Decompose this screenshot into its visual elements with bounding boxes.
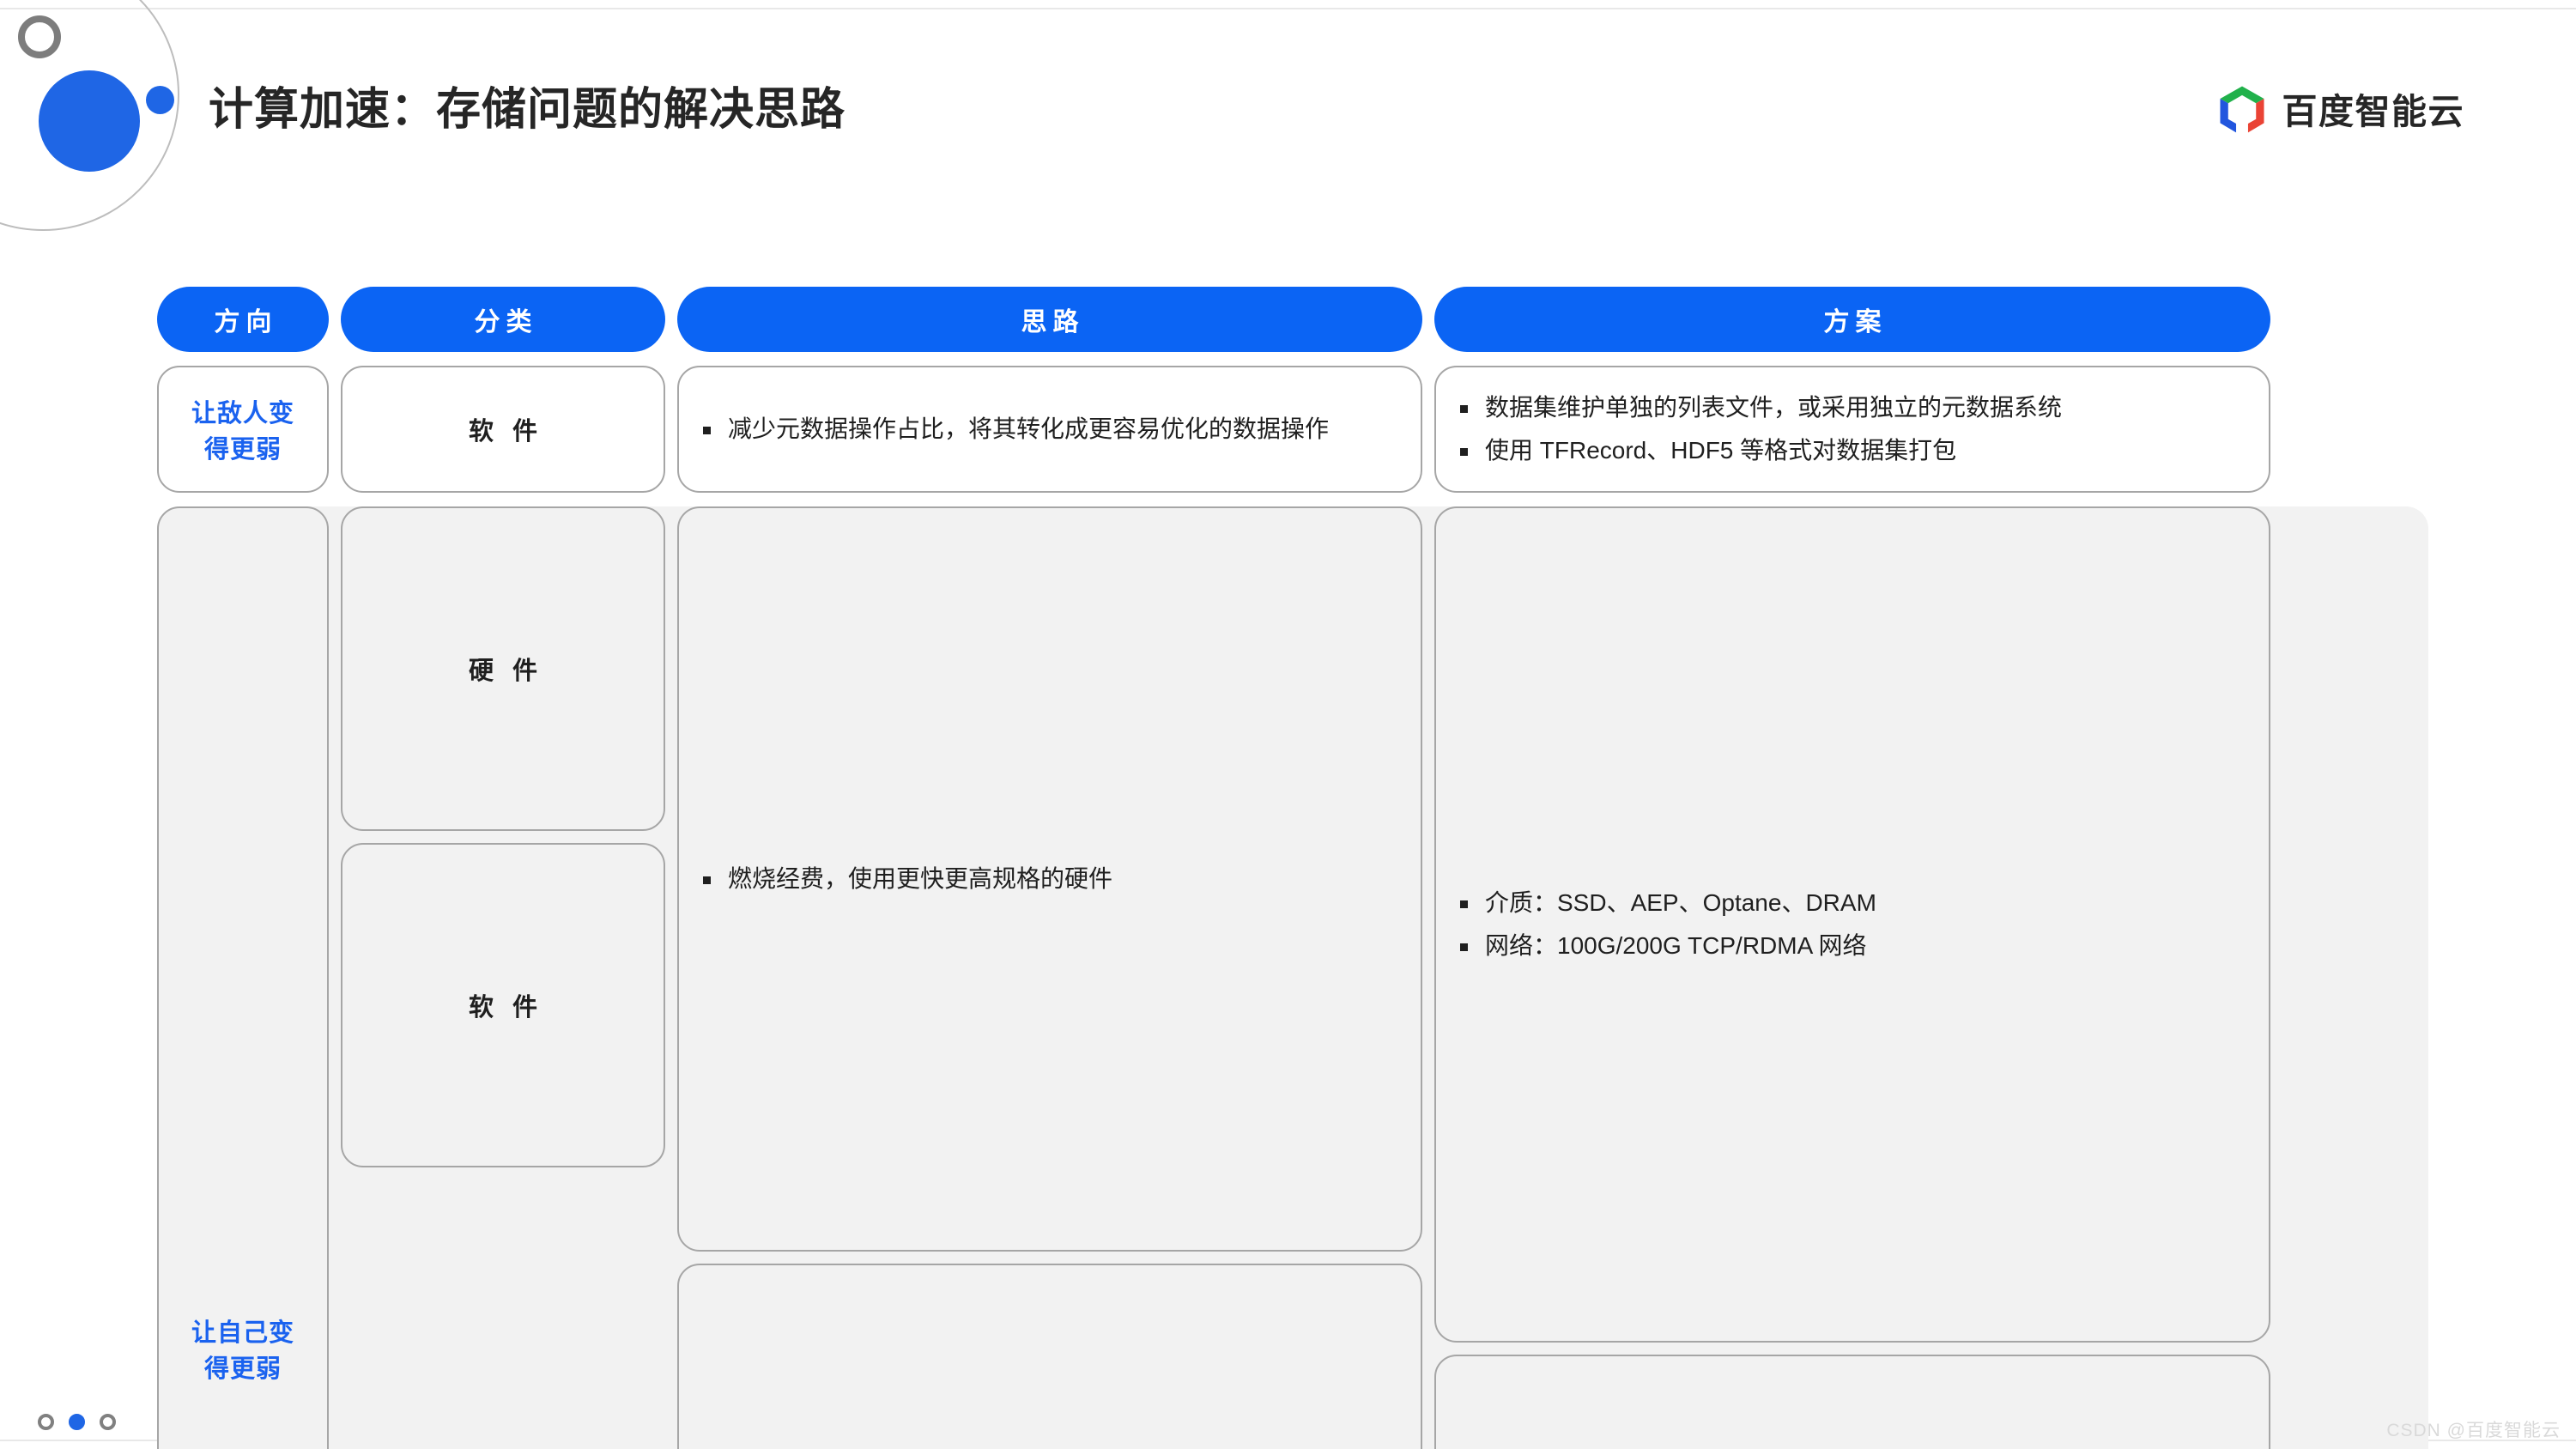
pagination-dot-2[interactable] xyxy=(69,1414,85,1430)
decorative-arc xyxy=(0,0,223,232)
column-header-idea: 思路 xyxy=(677,287,1422,352)
plan-cell: 并行文件系统：元数据和数据在存储节点上打散分布，内核客户端缩短软件 IO 路径 xyxy=(1434,1355,2270,1449)
direction-cell: 让自己变得更弱 xyxy=(157,506,329,1449)
slide-pagination[interactable] xyxy=(38,1414,116,1430)
list-item: 数据集维护单独的列表文件，或采用独立的元数据系统 xyxy=(1458,390,2062,427)
list-item: 介质：SSD、AEP、Optane、DRAM xyxy=(1458,885,1876,922)
brand-lockup: 百度智能云 xyxy=(2217,82,2465,134)
plan-stack: 介质：SSD、AEP、Optane、DRAM 网络：100G/200G TCP/… xyxy=(1434,506,2270,1449)
column-header-category: 分类 xyxy=(341,287,665,352)
category-cell: 软 件 xyxy=(341,843,665,1167)
list-item: 减少元数据操作占比，将其转化成更容易优化的数据操作 xyxy=(701,411,1329,448)
idea-cell: 减少元数据操作占比，将其转化成更容易优化的数据操作 xyxy=(677,366,1422,493)
plan-cell: 介质：SSD、AEP、Optane、DRAM 网络：100G/200G TCP/… xyxy=(1434,506,2270,1343)
plan-bullet-list: 介质：SSD、AEP、Optane、DRAM 网络：100G/200G TCP/… xyxy=(1458,885,1876,964)
table-group-row: 让敌人变得更弱 软 件 减少元数据操作占比，将其转化成更容易优化的数据操作 数据… xyxy=(157,366,2428,493)
list-item: 网络：100G/200G TCP/RDMA 网络 xyxy=(1458,928,1876,965)
slide-canvas: 计算加速：存储问题的解决思路 百度智能云 方向 分类 思路 方案 让敌人变得更弱… xyxy=(0,0,2576,1449)
idea-stack: 燃烧经费，使用更快更高规格的硬件 架构升级，提高系统扩展能力，缩短软件 IO 路… xyxy=(677,506,1422,1449)
baidu-cloud-cube-logo-icon xyxy=(2217,83,2267,133)
category-cell: 硬 件 xyxy=(341,506,665,831)
pagination-dot-1[interactable] xyxy=(38,1414,54,1430)
idea-cell: 燃烧经费，使用更快更高规格的硬件 xyxy=(677,506,1422,1252)
category-cell: 软 件 xyxy=(341,366,665,493)
category-stack: 硬 件 软 件 xyxy=(341,506,665,1449)
watermark: CSDN @百度智能云 xyxy=(2386,1416,2561,1442)
solutions-table: 方向 分类 思路 方案 让敌人变得更弱 软 件 减少元数据操作占比，将其转化成更… xyxy=(157,287,2428,1449)
idea-bullet-list: 燃烧经费，使用更快更高规格的硬件 xyxy=(701,861,1112,898)
column-header-direction: 方向 xyxy=(157,287,329,352)
idea-cell: 架构升级，提高系统扩展能力，缩短软件 IO 路径 xyxy=(677,1264,1422,1449)
top-frame-line xyxy=(0,8,2576,9)
decorative-ring-circle xyxy=(18,15,61,58)
idea-bullet-list: 减少元数据操作占比，将其转化成更容易优化的数据操作 xyxy=(701,411,1329,448)
brand-name: 百度智能云 xyxy=(2282,82,2465,134)
plan-bullet-list: 数据集维护单独的列表文件，或采用独立的元数据系统 使用 TFRecord、HDF… xyxy=(1458,390,2062,469)
table-group-row: 让自己变得更弱 硬 件 软 件 燃烧经费，使用更快更高规格的硬件 架构升级，提高… xyxy=(157,506,2428,1449)
table-header-row: 方向 分类 思路 方案 xyxy=(157,287,2428,352)
page-title: 计算加速：存储问题的解决思路 xyxy=(209,73,846,137)
decorative-large-dot xyxy=(39,70,140,172)
direction-cell: 让敌人变得更弱 xyxy=(157,366,329,493)
decorative-small-dot xyxy=(146,86,174,114)
column-header-plan: 方案 xyxy=(1434,287,2270,352)
list-item: 使用 TFRecord、HDF5 等格式对数据集打包 xyxy=(1458,433,2062,470)
plan-cell: 数据集维护单独的列表文件，或采用独立的元数据系统 使用 TFRecord、HDF… xyxy=(1434,366,2270,493)
list-item: 燃烧经费，使用更快更高规格的硬件 xyxy=(701,861,1112,898)
pagination-dot-3[interactable] xyxy=(100,1414,116,1430)
